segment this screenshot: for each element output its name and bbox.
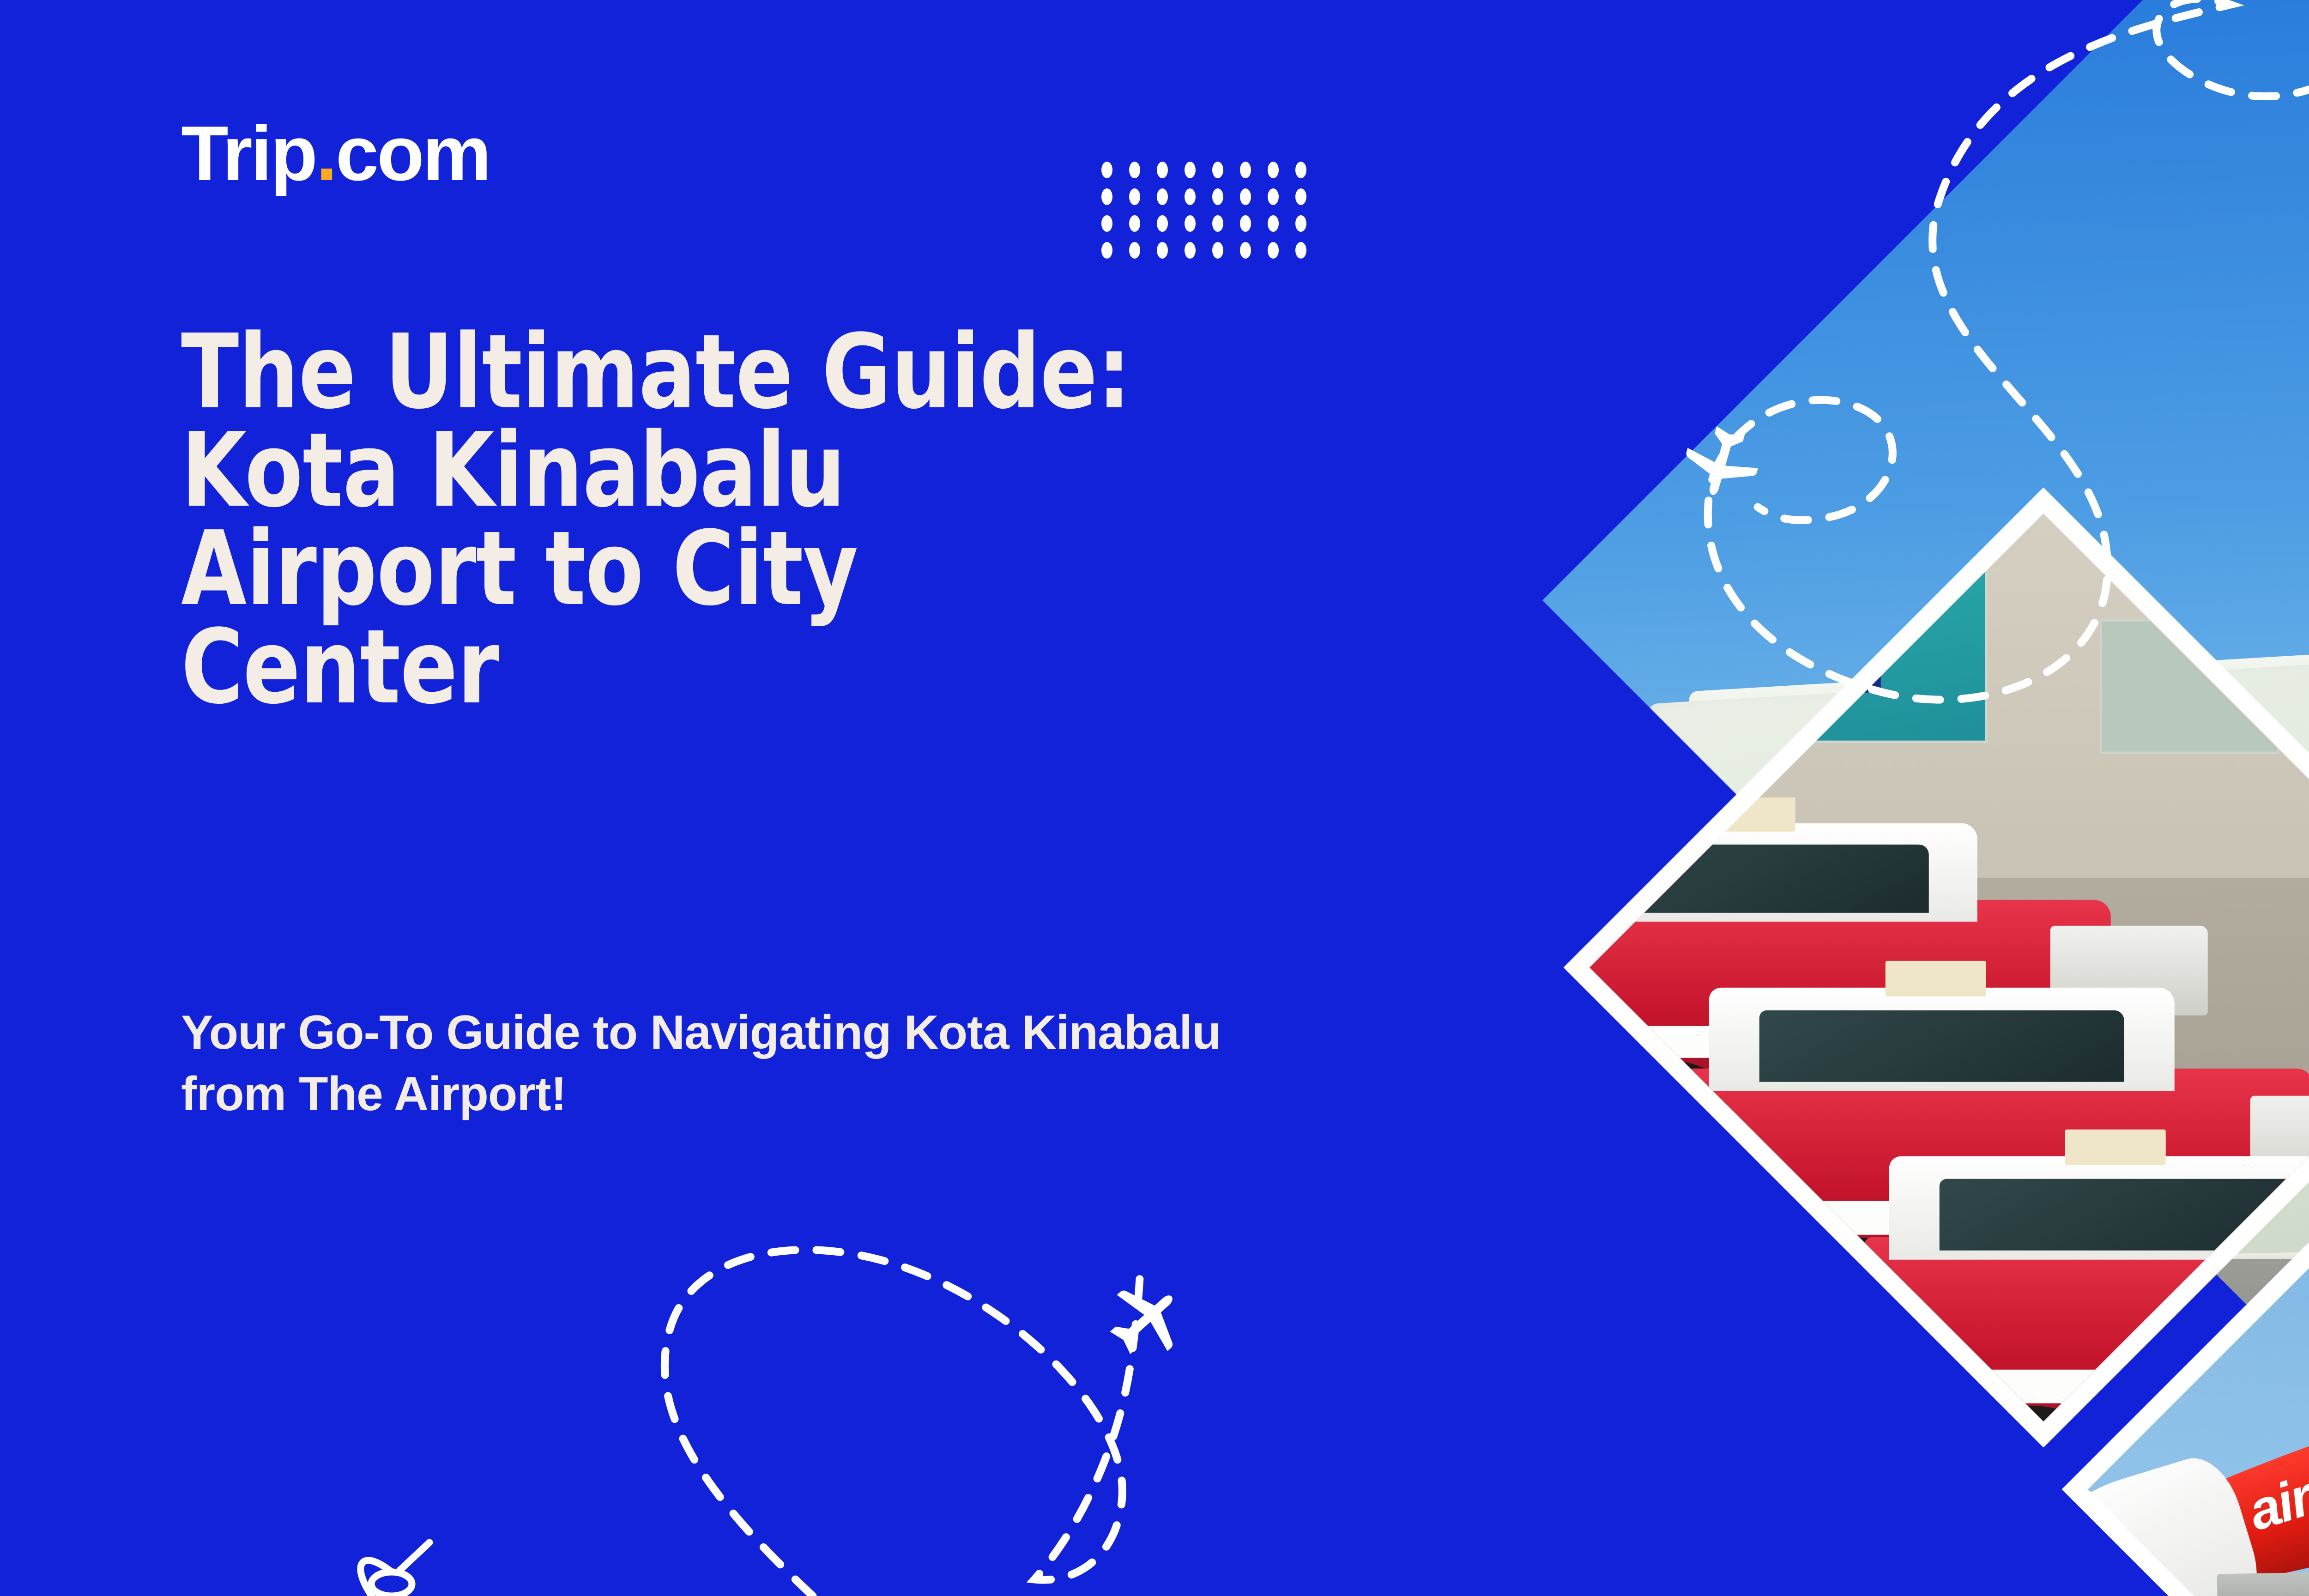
grid-dot — [1101, 215, 1112, 232]
grid-dot — [1185, 215, 1196, 232]
grid-dot — [1240, 188, 1251, 205]
grid-dot — [1212, 162, 1223, 178]
grid-dot — [1240, 215, 1251, 232]
grid-dot — [1157, 162, 1168, 178]
grid-dot — [1185, 188, 1196, 205]
grid-dot — [1101, 188, 1112, 205]
headline-line-3: Airport to City — [181, 520, 1541, 618]
grid-dot — [1212, 188, 1223, 205]
grid-dot — [1240, 242, 1251, 259]
path-tail — [361, 1560, 392, 1596]
grid-dot — [1185, 162, 1196, 178]
path-loop-icon — [371, 1572, 412, 1596]
airplane-icon — [1095, 1269, 1197, 1371]
grid-dot — [1185, 242, 1196, 259]
grid-dot — [1129, 162, 1140, 178]
grid-dot — [1157, 215, 1168, 232]
headline-line-4: Center — [181, 618, 1541, 717]
logo-word-com: com — [336, 110, 490, 197]
grid-dot — [1101, 242, 1112, 259]
grid-dot — [1240, 162, 1251, 178]
grid-dot — [1129, 188, 1140, 205]
grid-dot — [1268, 242, 1279, 259]
tripcom-logo[interactable]: Trip.com — [181, 115, 490, 192]
page-subtitle: Your Go-To Guide to Navigating Kota Kina… — [181, 1002, 1682, 1125]
subtitle-line-2: from The Airport! — [181, 1064, 1682, 1125]
grid-dot — [1268, 162, 1279, 178]
grid-dot — [1157, 242, 1168, 259]
path-tail — [400, 1542, 429, 1570]
grid-dot — [1268, 215, 1279, 232]
subtitle-line-1: Your Go-To Guide to Navigating Kota Kina… — [181, 1002, 1682, 1064]
headline-line-1: The Ultimate Guide: — [181, 323, 1541, 422]
page-title: The Ultimate Guide: Kota Kinabalu Airpor… — [181, 323, 1541, 717]
grid-dot — [1268, 188, 1279, 205]
dot-grid-decoration — [1101, 162, 1323, 269]
grid-dot — [1157, 188, 1168, 205]
grid-dot — [1295, 215, 1306, 232]
grid-dot — [1212, 215, 1223, 232]
grid-dot — [1129, 242, 1140, 259]
grid-dot — [1295, 242, 1306, 259]
grid-dot — [1101, 162, 1112, 178]
headline-line-2: Kota Kinabalu — [181, 422, 1541, 520]
logo-orange-dot: . — [316, 110, 336, 197]
dashed-flight-path-lower — [665, 1250, 1140, 1596]
grid-dot — [1129, 215, 1140, 232]
grid-dot — [1295, 188, 1306, 205]
grid-dot — [1212, 242, 1223, 259]
promo-banner: ↑ P Teksi Bas P → ← MAS Admin MAS Cargo — [0, 0, 2309, 1596]
grid-dot — [1295, 162, 1306, 178]
logo-word-trip: Trip — [181, 110, 316, 197]
